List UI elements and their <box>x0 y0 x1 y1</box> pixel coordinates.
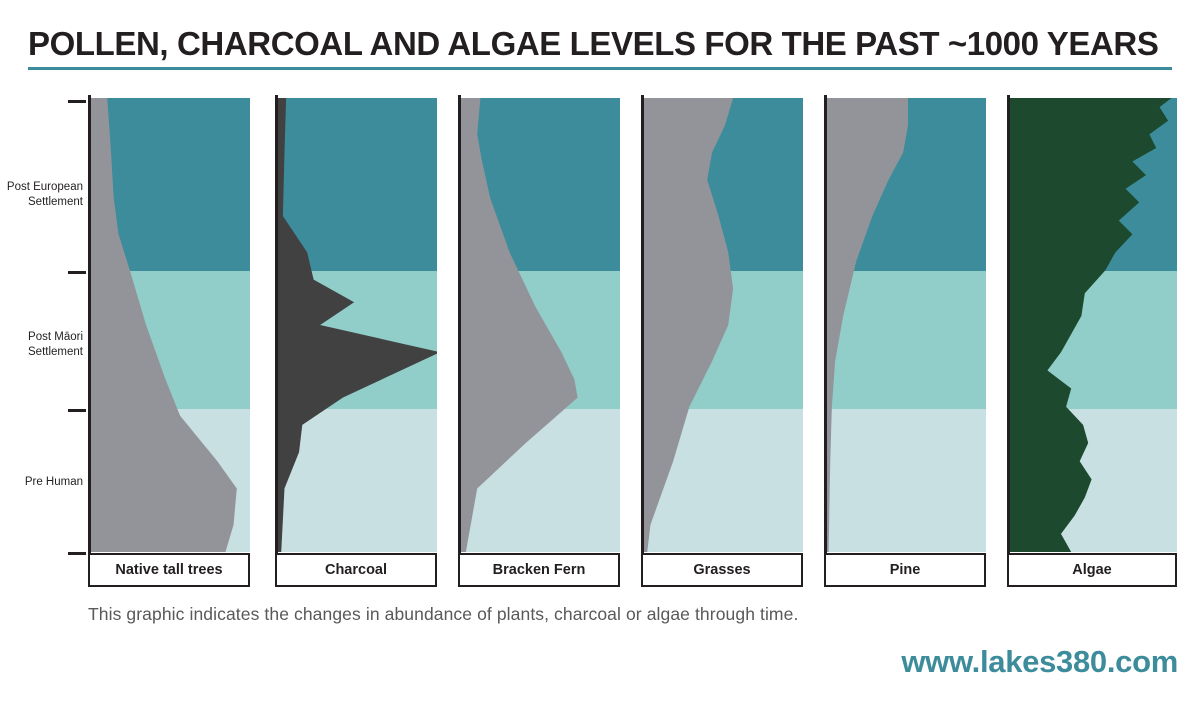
legend-row: Native tall treesCharcoalBracken FernGra… <box>0 553 1200 587</box>
axis-tick-2 <box>68 409 86 412</box>
axis-label-2: Post MāoriSettlement <box>0 330 83 359</box>
axis-label-line1: Post Māori <box>0 330 83 345</box>
legend-box-grasses[interactable]: Grasses <box>641 553 803 587</box>
panel-graphic <box>91 95 250 555</box>
panel-algae[interactable] <box>1007 95 1177 555</box>
panel-graphic <box>827 95 986 555</box>
axis-label-line1: Post European <box>0 180 83 195</box>
panel-native-tall-trees[interactable] <box>88 95 250 555</box>
axis-label-line1: Pre Human <box>0 475 83 490</box>
site-url-link[interactable]: www.lakes380.com <box>901 644 1178 680</box>
era-band-2 <box>278 409 437 552</box>
axis-label-line2: Settlement <box>0 345 83 360</box>
panel-graphic <box>461 95 620 555</box>
legend-box-pine[interactable]: Pine <box>824 553 986 587</box>
legend-label: Charcoal <box>325 562 387 578</box>
axis-tick-1 <box>68 271 86 274</box>
legend-label: Native tall trees <box>115 562 222 578</box>
panel-graphic <box>278 95 437 555</box>
panel-graphic <box>644 95 803 555</box>
axis-label-3: Pre Human <box>0 475 83 490</box>
legend-label: Grasses <box>693 562 750 578</box>
legend-box-native-tall-trees[interactable]: Native tall trees <box>88 553 250 587</box>
panel-grasses[interactable] <box>641 95 803 555</box>
legend-label: Algae <box>1072 562 1112 578</box>
page-title: POLLEN, CHARCOAL AND ALGAE LEVELS FOR TH… <box>28 26 1172 62</box>
caption-text: This graphic indicates the changes in ab… <box>88 604 798 625</box>
legend-box-charcoal[interactable]: Charcoal <box>275 553 437 587</box>
panel-graphic <box>1010 95 1177 555</box>
panel-pine[interactable] <box>824 95 986 555</box>
title-block: POLLEN, CHARCOAL AND ALGAE LEVELS FOR TH… <box>28 26 1172 70</box>
panel-bracken-fern[interactable] <box>458 95 620 555</box>
legend-box-bracken-fern[interactable]: Bracken Fern <box>458 553 620 587</box>
chart-area: Post EuropeanSettlementPost MāoriSettlem… <box>0 95 1200 555</box>
era-band-1 <box>827 271 986 409</box>
axis-label-line2: Settlement <box>0 195 83 210</box>
legend-box-algae[interactable]: Algae <box>1007 553 1177 587</box>
axis-tick-0 <box>68 100 86 103</box>
era-band-2 <box>827 409 986 552</box>
legend-label: Bracken Fern <box>493 562 586 578</box>
legend-label: Pine <box>890 562 921 578</box>
axis-label-1: Post EuropeanSettlement <box>0 180 83 209</box>
title-underline-rule <box>28 67 1172 70</box>
panel-charcoal[interactable] <box>275 95 437 555</box>
